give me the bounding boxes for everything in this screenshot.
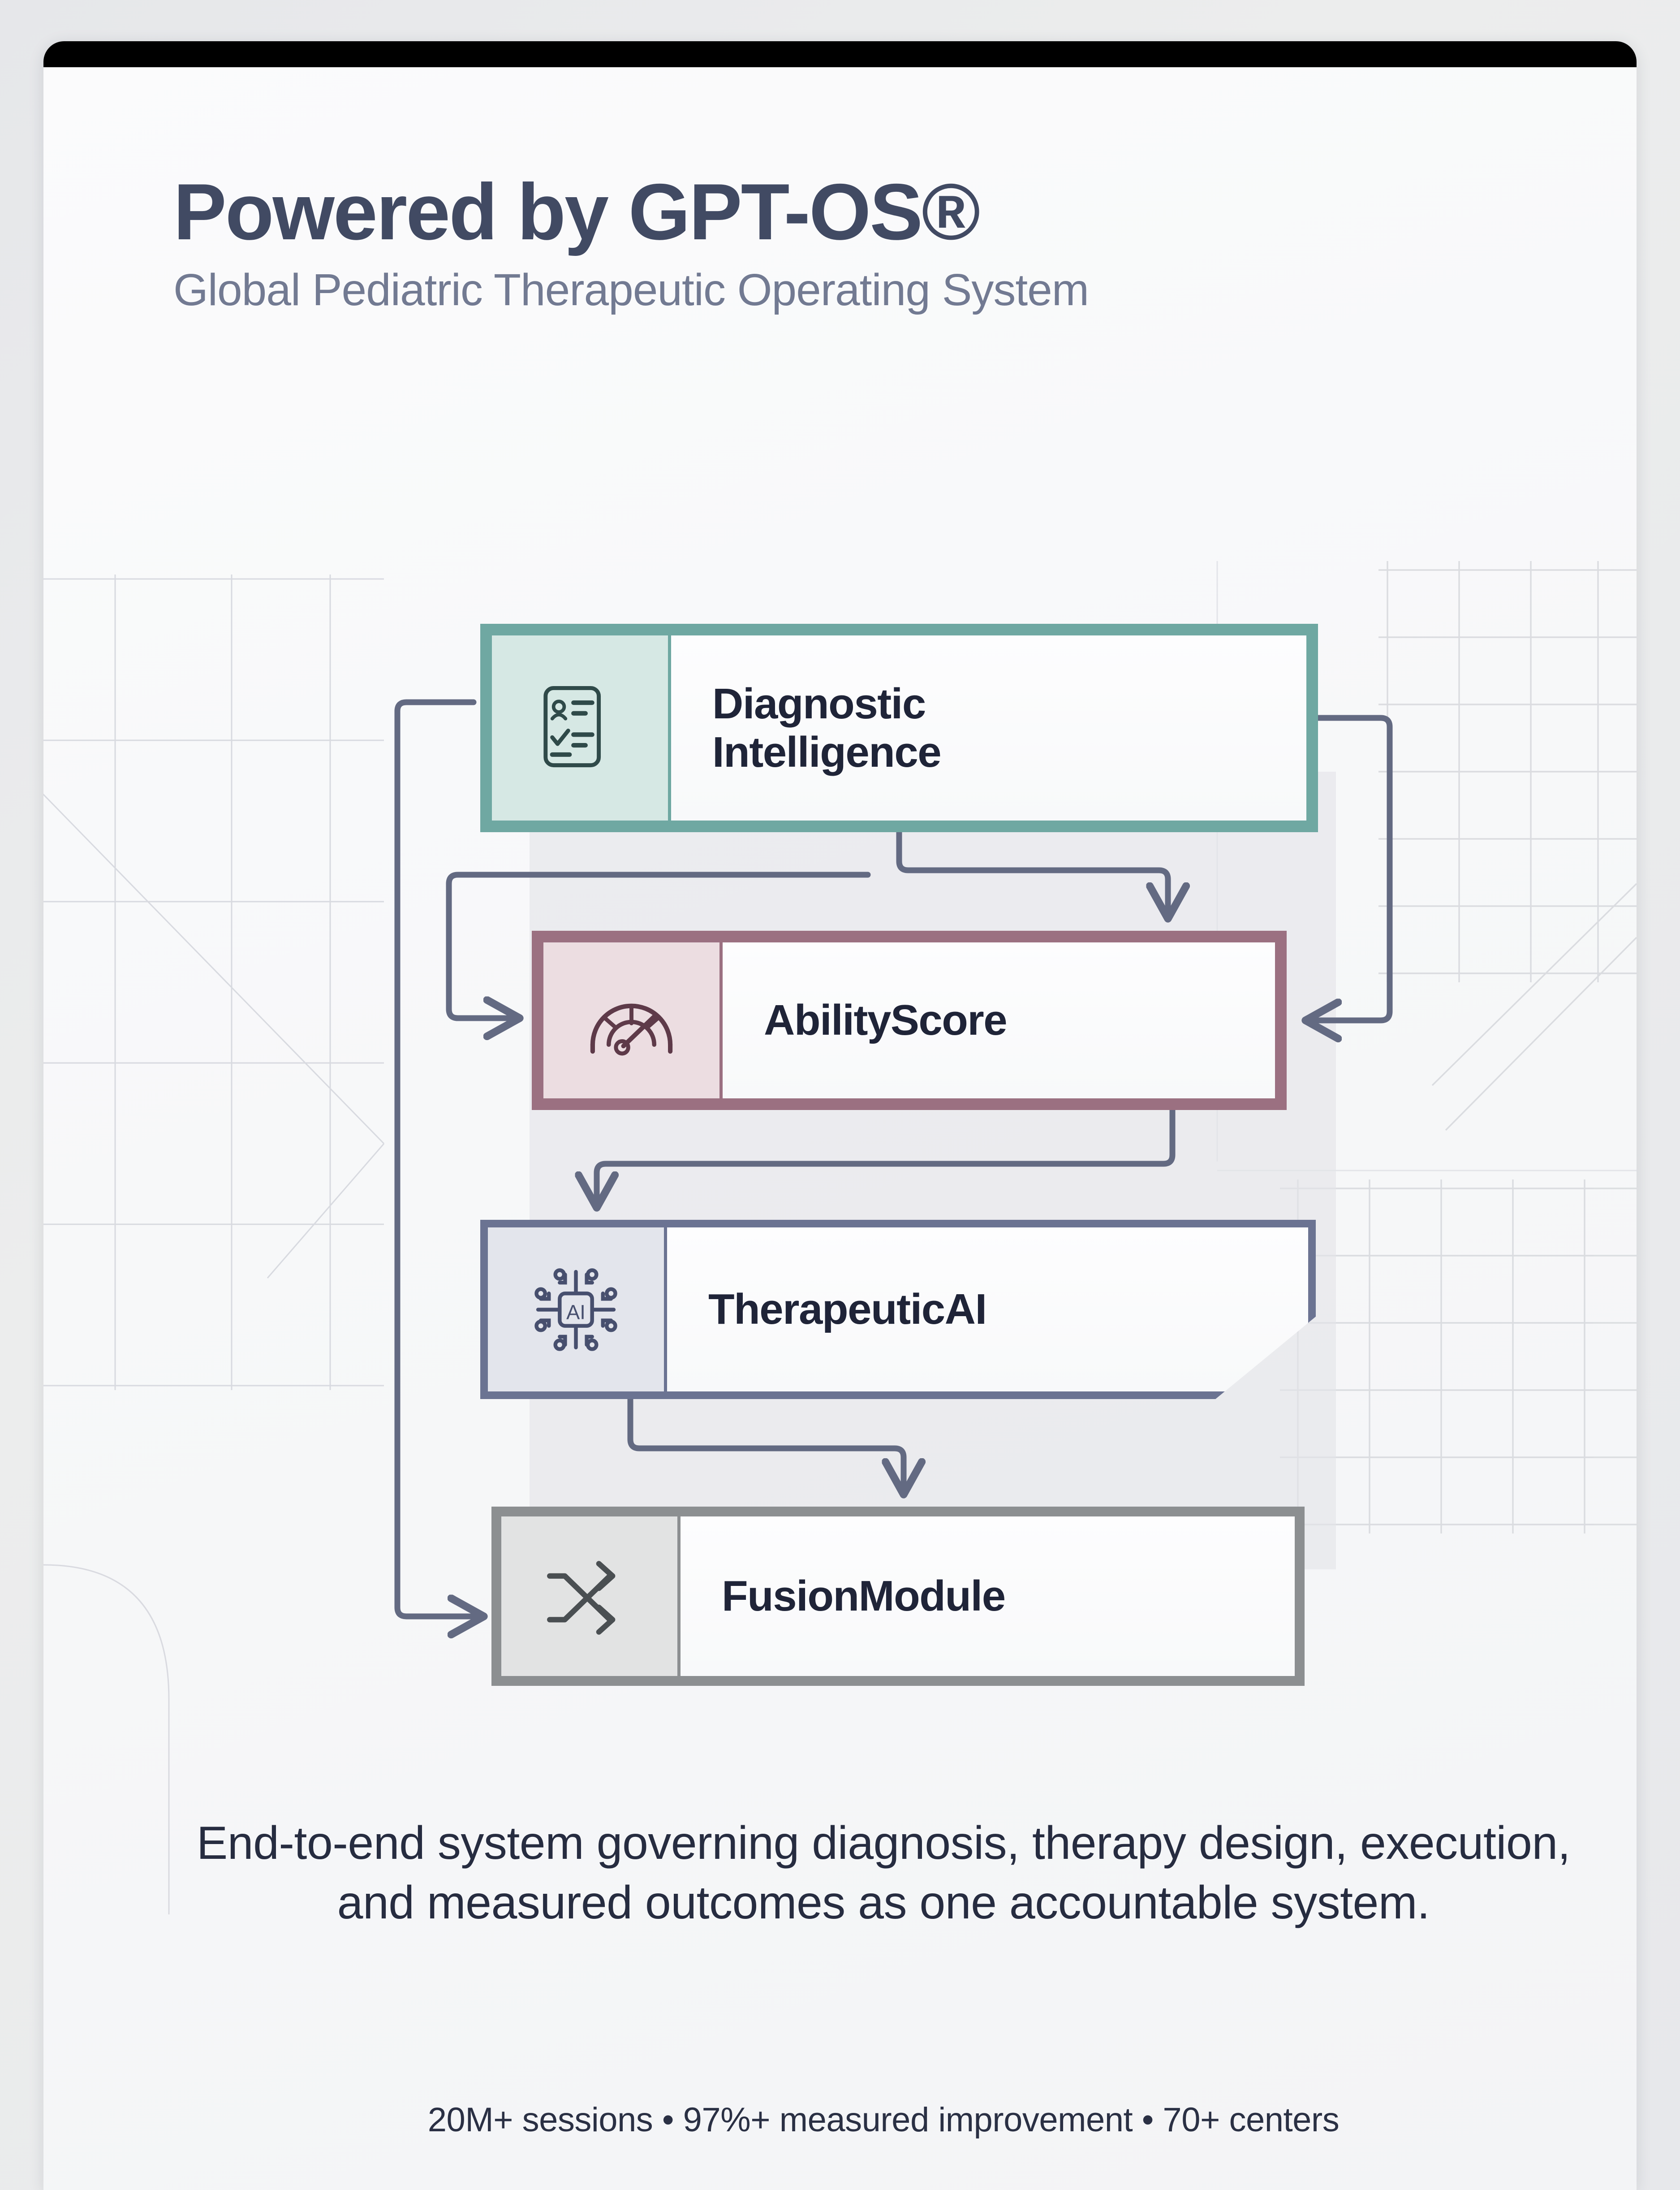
node-label-cell: TherapeuticAI xyxy=(667,1227,1308,1391)
node-label-cell: AbilityScore xyxy=(723,942,1275,1098)
content-card: Powered by GPT-OS® Global Pediatric Ther… xyxy=(43,41,1637,2190)
node-icon-cell xyxy=(543,942,723,1098)
node-therapeutic-ai[interactable]: AI TherapeuticAI xyxy=(480,1220,1316,1399)
node-label-cell: FusionModule xyxy=(681,1516,1295,1676)
screenshot-stage: Powered by GPT-OS® Global Pediatric Ther… xyxy=(0,0,1680,2190)
gauge-icon xyxy=(583,981,680,1060)
top-black-bar xyxy=(43,41,1637,67)
node-icon-cell xyxy=(501,1516,681,1676)
node-ability-score[interactable]: AbilityScore xyxy=(532,931,1287,1110)
node-icon-cell xyxy=(492,635,671,821)
page-subtitle: Global Pediatric Therapeutic Operating S… xyxy=(173,263,1271,317)
header-block: Powered by GPT-OS® Global Pediatric Ther… xyxy=(173,171,1517,317)
node-diagnostic-intelligence[interactable]: Diagnostic Intelligence xyxy=(480,624,1318,832)
node-fusion-module[interactable]: FusionModule xyxy=(491,1507,1305,1686)
node-label-cell: Diagnostic Intelligence xyxy=(671,635,1306,821)
node-label: Diagnostic Intelligence xyxy=(712,680,941,776)
description-text: End-to-end system governing diagnosis, t… xyxy=(178,1814,1589,1933)
metrics-text: 20M+ sessions • 97%+ measured improvemen… xyxy=(178,2100,1589,2139)
svg-text:AI: AI xyxy=(566,1300,586,1323)
node-label: AbilityScore xyxy=(764,996,1007,1045)
shuffle-icon xyxy=(541,1553,638,1640)
node-label: FusionModule xyxy=(722,1572,1005,1620)
clipboard-checklist-icon xyxy=(538,680,623,776)
node-icon-cell: AI xyxy=(488,1227,667,1391)
architecture-diagram: Diagnostic Intelligence xyxy=(43,592,1637,1744)
page-title: Powered by GPT-OS® xyxy=(173,171,1517,253)
node-label: TherapeuticAI xyxy=(708,1285,986,1334)
ai-chip-icon: AI xyxy=(530,1264,622,1356)
